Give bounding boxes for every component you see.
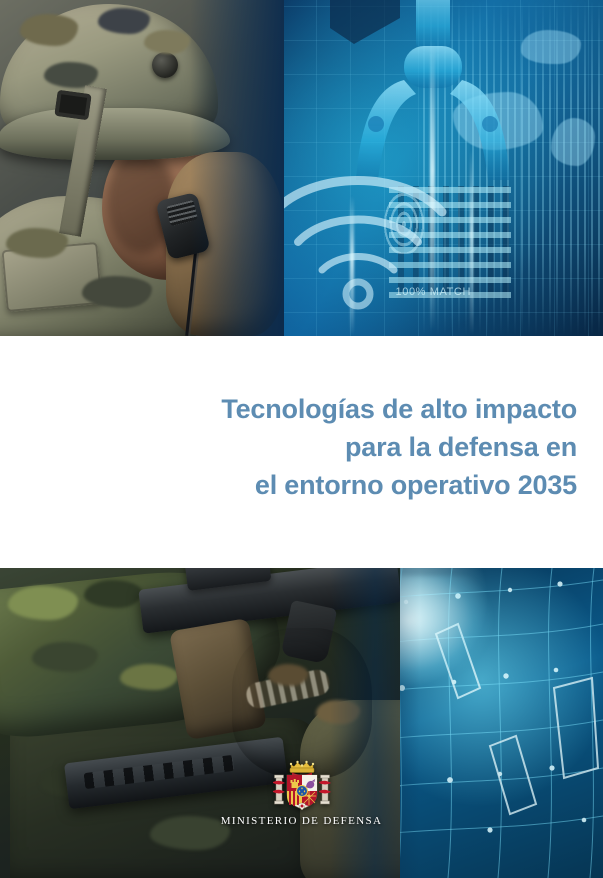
- camo-patch: [144, 30, 190, 54]
- camo-patch: [20, 14, 78, 46]
- camo-patch: [268, 664, 308, 686]
- photo-edge-blend: [330, 568, 420, 878]
- camo-patch: [98, 8, 150, 34]
- banner-bottom-image: [0, 568, 603, 878]
- title-section: Tecnologías de alto impacto para la defe…: [0, 336, 603, 568]
- camo-patch: [44, 62, 98, 88]
- page-title: Tecnologías de alto impacto para la defe…: [57, 390, 577, 504]
- camo-patch: [32, 642, 98, 672]
- cover-page: 100% MATCH: [0, 0, 603, 878]
- robot-arm-icon: [330, 0, 540, 184]
- wifi-signal-icon: [258, 168, 458, 318]
- camo-patch: [8, 586, 78, 620]
- light-streak: [430, 40, 435, 330]
- light-streak: [470, 150, 473, 335]
- ministry-emblem: MINISTERIO DE DEFENSA: [0, 760, 603, 827]
- spain-coat-of-arms-icon: [269, 760, 335, 812]
- camo-patch: [84, 580, 142, 608]
- ministry-label: MINISTERIO DE DEFENSA: [0, 815, 603, 827]
- title-line-3: el entorno operativo 2035: [57, 466, 577, 504]
- camo-patch: [120, 664, 178, 690]
- title-line-2: para la defensa en: [57, 428, 577, 466]
- light-streak: [350, 196, 354, 336]
- soldier-with-radio-photo: [0, 0, 284, 336]
- camo-patch: [82, 276, 152, 308]
- photo-edge-fade: [190, 0, 284, 336]
- strap-buckle: [54, 90, 91, 120]
- helmet-mount-knob: [152, 52, 178, 78]
- title-line-1: Tecnologías de alto impacto: [57, 390, 577, 428]
- banner-top-image: 100% MATCH: [0, 0, 603, 336]
